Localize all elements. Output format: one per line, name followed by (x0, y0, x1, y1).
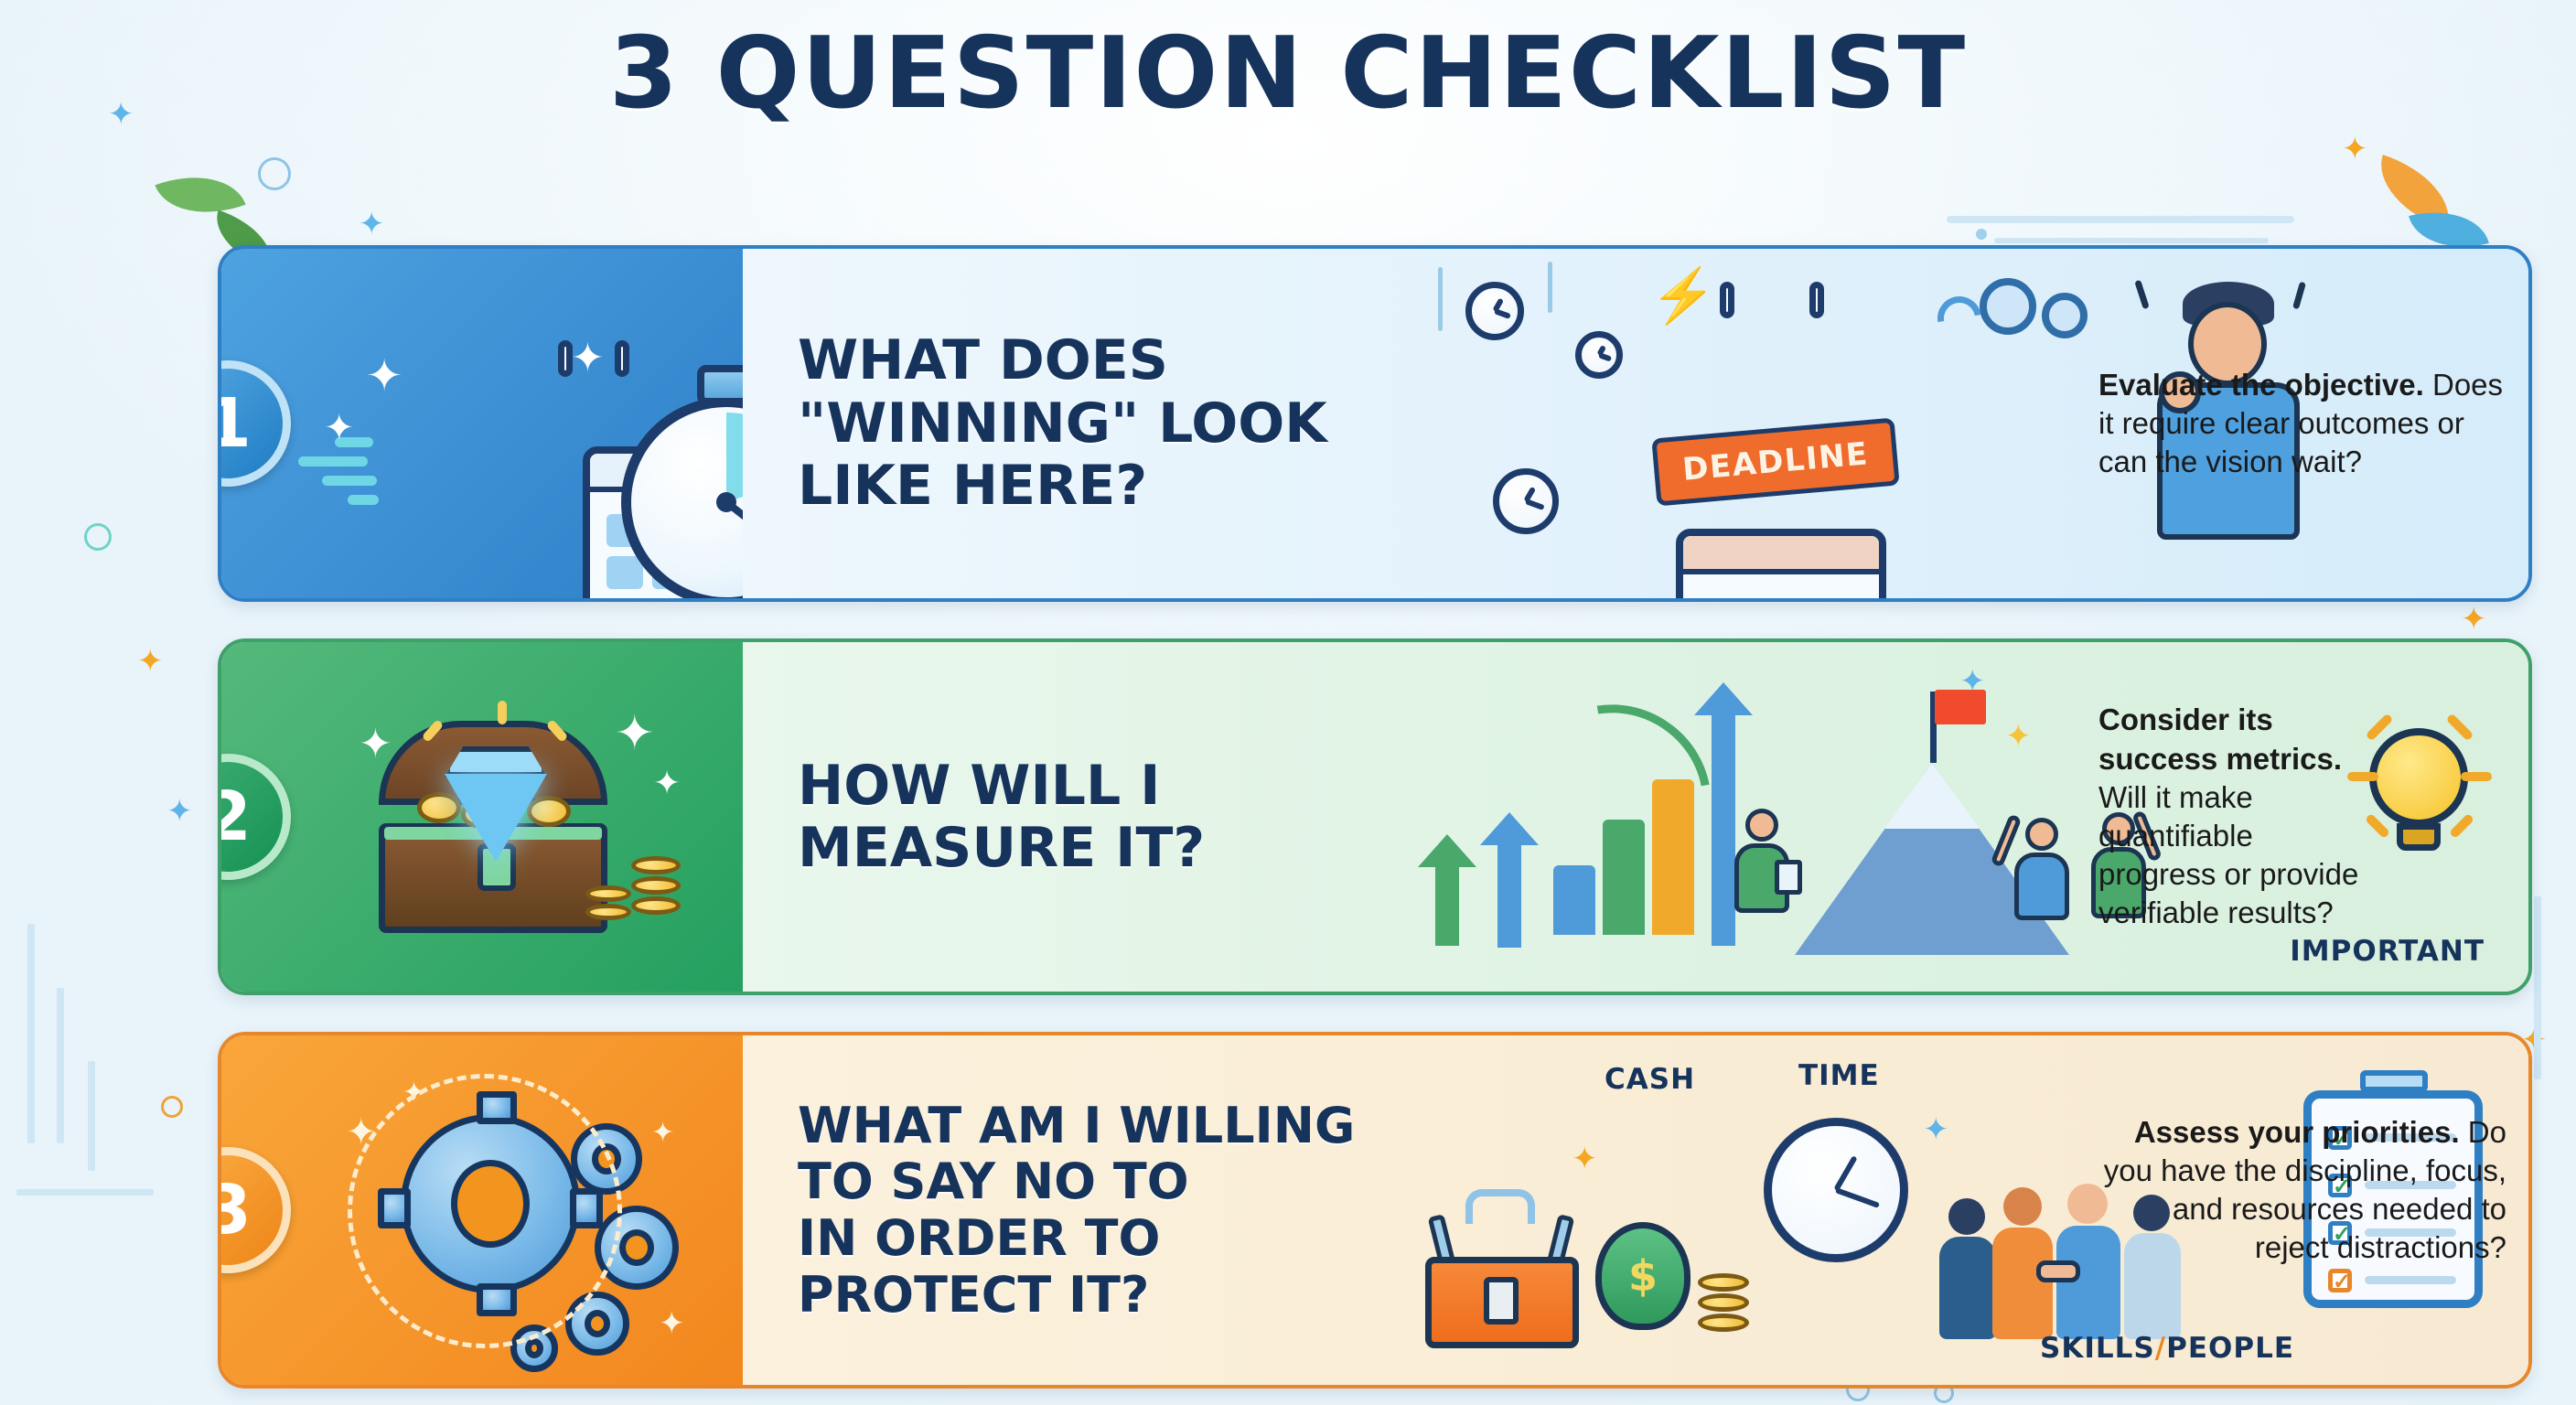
row-3-skills-people-label: SKILLS/PEOPLE (2040, 1332, 2294, 1365)
deco-ring (258, 157, 291, 190)
row-1-illustration-panel: ✦ ✦ ✦ (221, 249, 743, 598)
sparkle-ray (498, 701, 507, 724)
coin-stack-icon (585, 904, 631, 920)
circuit-line (57, 988, 64, 1143)
checklist-row-1[interactable]: 1 ✦ ✦ ✦ (218, 245, 2532, 602)
row-2-content-panel: HOW WILL I MEASURE IT? (743, 642, 2528, 992)
coin-stack-icon (631, 876, 681, 895)
coin-stack-icon (631, 856, 681, 874)
circuit-line (27, 924, 35, 1143)
row-2-description: Consider its success metrics. Will it ma… (2098, 701, 2528, 932)
calendar-ring-icon (615, 340, 629, 377)
question-line: TO SAY NO TO (798, 1153, 1401, 1210)
coin-icon (1698, 1293, 1749, 1312)
circuit-line (16, 1189, 154, 1196)
sparkle-icon: ✦ (2005, 721, 2032, 752)
sparkle-icon: ✦ (659, 1308, 685, 1339)
question-line: MEASURE IT? (798, 817, 1401, 879)
circuit-line (88, 1061, 95, 1171)
leaf-icon (2367, 155, 2463, 230)
sparkle-icon: ✦ (1959, 666, 1986, 697)
chart-bar (1603, 820, 1645, 935)
checklist-row-3[interactable]: 3 ✦ ✦ ✦ ✦ (218, 1032, 2532, 1389)
calendar-ring-icon (558, 340, 573, 377)
head (1745, 809, 1778, 842)
lightning-icon: ⚡ (1650, 265, 1716, 327)
sparkle-icon: ✦ (1923, 1114, 1949, 1145)
clipboard-clip (2360, 1070, 2428, 1092)
coin-icon (1698, 1314, 1749, 1332)
row-2-illustration-panel: ✦ ✦ ✦ (221, 642, 743, 992)
question-line: PROTECT IT? (798, 1267, 1401, 1324)
torso (2014, 853, 2069, 920)
stress-mark (2292, 282, 2306, 310)
motion-streak (1548, 262, 1552, 313)
deco-ring (161, 1096, 183, 1118)
row-3-art: CASH $ ✦ TIME ✦ (1401, 1035, 2098, 1385)
checklist-row-2[interactable]: 2 ✦ ✦ ✦ (218, 638, 2532, 995)
row-3-cash-label: CASH (1605, 1063, 1695, 1096)
sparkle-icon: ✦ (166, 796, 193, 827)
row-2-question: HOW WILL I MEASURE IT? (743, 755, 1401, 880)
deadline-badge: DEADLINE (1651, 418, 1899, 507)
description-rest: Will it make quantifiable progress or pr… (2098, 780, 2358, 930)
row-3-content-panel: WHAT AM I WILLING TO SAY NO TO IN ORDER … (743, 1035, 2528, 1385)
calendar-ring-icon (1720, 282, 1734, 318)
head (2025, 818, 2058, 851)
torso (1992, 1228, 2053, 1339)
page-title: 3 QUESTION CHECKLIST (0, 16, 2576, 131)
person-icon (2005, 809, 2078, 955)
head (1948, 1198, 1985, 1235)
description-bold: Assess your priorities. (2134, 1115, 2460, 1149)
sparkle-icon: ✦ (137, 646, 164, 677)
sparkle-icon: ✦ (1572, 1143, 1598, 1174)
toolbox-icon (1420, 1169, 1584, 1352)
row-1-description: Evaluate the objective. Does it require … (2098, 366, 2528, 482)
question-line: "WINNING" LOOK (798, 392, 1401, 455)
motion-streak (1438, 267, 1443, 331)
dotted-orbit (348, 1074, 622, 1348)
checklist-rows: 1 ✦ ✦ ✦ (218, 245, 2532, 1405)
row-2-art: ✦ ✦ (1401, 642, 2098, 992)
deco-ring (84, 523, 112, 551)
toolbox-handle (1465, 1189, 1535, 1224)
head (2003, 1187, 2042, 1226)
person-icon (1723, 809, 1797, 955)
diamond-icon (445, 774, 547, 862)
coin-stack-icon (631, 896, 681, 915)
clock-icon (1575, 331, 1623, 379)
row-3-illustration-panel: ✦ ✦ ✦ ✦ (221, 1035, 743, 1385)
sparkle-icon: ✦ (653, 767, 681, 799)
row-2-important-label: IMPORTANT (2290, 935, 2485, 968)
money-bag-icon: $ (1595, 1222, 1690, 1330)
clock-icon (1493, 468, 1559, 534)
row-1-art: ⚡ DEADLINE (1401, 249, 2098, 598)
circuit-line (1947, 216, 2294, 223)
calendar-ring-icon (1809, 282, 1824, 318)
question-line: WHAT DOES (798, 329, 1401, 391)
sparkle-icon: ✦ (651, 1120, 674, 1147)
stress-mark (2134, 280, 2150, 310)
coin-icon (1698, 1273, 1749, 1292)
gear-icon (1980, 278, 2036, 335)
calendar-icon (1676, 529, 1886, 602)
coin-stack-icon (585, 885, 631, 902)
circuit-line (2534, 896, 2541, 1079)
row-3-time-label: TIME (1798, 1059, 1880, 1092)
sparkle-icon: ✦ (359, 209, 385, 240)
people-label: PEOPLE (2166, 1332, 2294, 1365)
sparkle-icon: ✦ (324, 410, 355, 446)
gear-icon (2042, 293, 2088, 338)
sparkle-icon: ✦ (366, 355, 402, 399)
question-line: HOW WILL I (798, 755, 1401, 817)
sparkle-icon: ✦ (2342, 134, 2368, 165)
deco-dot (1976, 229, 1987, 240)
mountain-snow (1884, 763, 1980, 829)
row-3-description: Assess your priorities. Do you have the … (2098, 1113, 2528, 1308)
clock-icon (1764, 1118, 1908, 1262)
torso (1939, 1237, 1996, 1339)
toolbox-lock-icon (1484, 1277, 1519, 1325)
sparkle-icon: ✦ (571, 338, 605, 379)
leaf-icon (155, 158, 245, 231)
question-line: IN ORDER TO (798, 1210, 1401, 1267)
handshake (2036, 1260, 2080, 1282)
chart-bar (1652, 779, 1694, 935)
chart-bar (1553, 865, 1595, 935)
clock-icon (1465, 282, 1524, 340)
separator: / (2155, 1332, 2166, 1365)
row-1-content-panel: WHAT DOES "WINNING" LOOK LIKE HERE? ⚡ (743, 249, 2528, 598)
circuit-line (1994, 238, 2269, 243)
description-bold: Consider its success metrics. (2098, 702, 2342, 775)
row-3-question: WHAT AM I WILLING TO SAY NO TO IN ORDER … (743, 1098, 1401, 1323)
question-line: LIKE HERE? (798, 455, 1401, 517)
description-bold: Evaluate the objective. (2098, 368, 2424, 402)
row-1-question: WHAT DOES "WINNING" LOOK LIKE HERE? (743, 329, 1401, 517)
question-line: WHAT AM I WILLING (798, 1098, 1401, 1154)
skills-label: SKILLS (2040, 1332, 2155, 1365)
